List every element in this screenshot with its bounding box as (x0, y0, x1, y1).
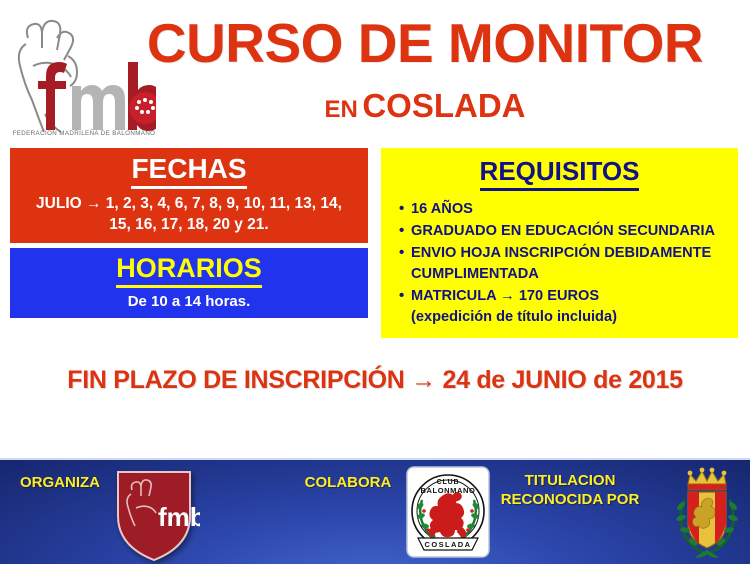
bullet-icon: • (399, 242, 404, 263)
badge-top-text-line2: BALONMANO (421, 486, 476, 495)
horarios-heading: HORARIOS (10, 248, 368, 288)
list-item: • MATRICULA → 170 EUROS (expedición de t… (399, 286, 730, 328)
fechas-heading: FECHAS (10, 148, 368, 189)
fechas-panel: FECHAS JULIO → 1, 2, 3, 4, 6, 7, 8, 9, 1… (10, 148, 368, 243)
requisitos-panel: REQUISITOS • 16 AÑOS • GRADUADO EN EDUCA… (381, 148, 738, 338)
bullet-icon: • (399, 220, 404, 241)
requisito-text: 16 AÑOS (411, 201, 473, 217)
deadline-text: FIN PLAZO DE INSCRIPCIÓN → 24 de JUNIO d… (0, 366, 750, 395)
requisito-text: GRADUADO EN EDUCACIÓN SECUNDARIA (411, 223, 715, 239)
footer-banner: ORGANIZA fmb COLABORA (0, 458, 750, 564)
club-balonmano-coslada-badge: COSLADA CLUB BALONMANO (406, 466, 490, 558)
organiza-label: ORGANIZA (12, 473, 108, 492)
badge-top-text-line1: CLUB (437, 479, 460, 486)
requisito-subtext: (expedición de título incluida) (411, 307, 730, 328)
requisito-text: ENVIO HOJA INSCRIPCIÓN DEBIDAMENTE (411, 245, 711, 261)
colabora-label: COLABORA (298, 473, 398, 492)
requisito-subtext: CUMPLIMENTADA (411, 264, 730, 285)
subtitle-place: COSLADA (362, 87, 525, 124)
list-item: • ENVIO HOJA INSCRIPCIÓN DEBIDAMENTE CUM… (399, 243, 730, 285)
horarios-panel: HORARIOS De 10 a 14 horas. (10, 248, 368, 318)
poster-canvas: FEDERACIÓN MADRILEÑA DE BALONMANO CURSO … (0, 0, 750, 562)
page-title: CURSO DE MONITOR (110, 14, 740, 72)
page-subtitle: EN COSLADA (110, 87, 740, 125)
fechas-line-1: JULIO → 1, 2, 3, 4, 6, 7, 8, 9, 10, 11, … (20, 193, 358, 214)
fmb-shield-logo: fmb (108, 464, 200, 564)
spanish-sports-council-crest (666, 462, 748, 562)
bullet-icon: • (399, 285, 404, 306)
bullet-icon: • (399, 198, 404, 219)
fechas-body: JULIO → 1, 2, 3, 4, 6, 7, 8, 9, 10, 11, … (10, 189, 368, 235)
requisitos-heading-text: REQUISITOS (480, 156, 640, 191)
requisitos-list: • 16 AÑOS • GRADUADO EN EDUCACIÓN SECUND… (381, 199, 738, 328)
list-item: • 16 AÑOS (399, 199, 730, 220)
titulacion-label-line1: TITULACION (480, 471, 660, 490)
subtitle-prefix: EN (325, 96, 358, 123)
fechas-heading-text: FECHAS (131, 153, 246, 189)
list-item: • GRADUADO EN EDUCACIÓN SECUNDARIA (399, 221, 730, 242)
titulacion-label: TITULACION RECONOCIDA POR (480, 471, 660, 509)
horarios-body: De 10 a 14 horas. (10, 288, 368, 310)
horarios-heading-text: HORARIOS (116, 253, 262, 288)
fmb-logo-caption: FEDERACIÓN MADRILEÑA DE BALONMANO (13, 130, 156, 136)
fechas-line-2: 15, 16, 17, 18, 20 y 21. (20, 214, 358, 235)
titulacion-label-line2: RECONOCIDA POR (480, 490, 660, 509)
requisito-text: MATRICULA → 170 EUROS (411, 288, 599, 304)
fmb-shield-text: fmb (158, 502, 200, 532)
requisitos-heading: REQUISITOS (381, 148, 738, 191)
badge-bottom-text: COSLADA (425, 540, 472, 549)
